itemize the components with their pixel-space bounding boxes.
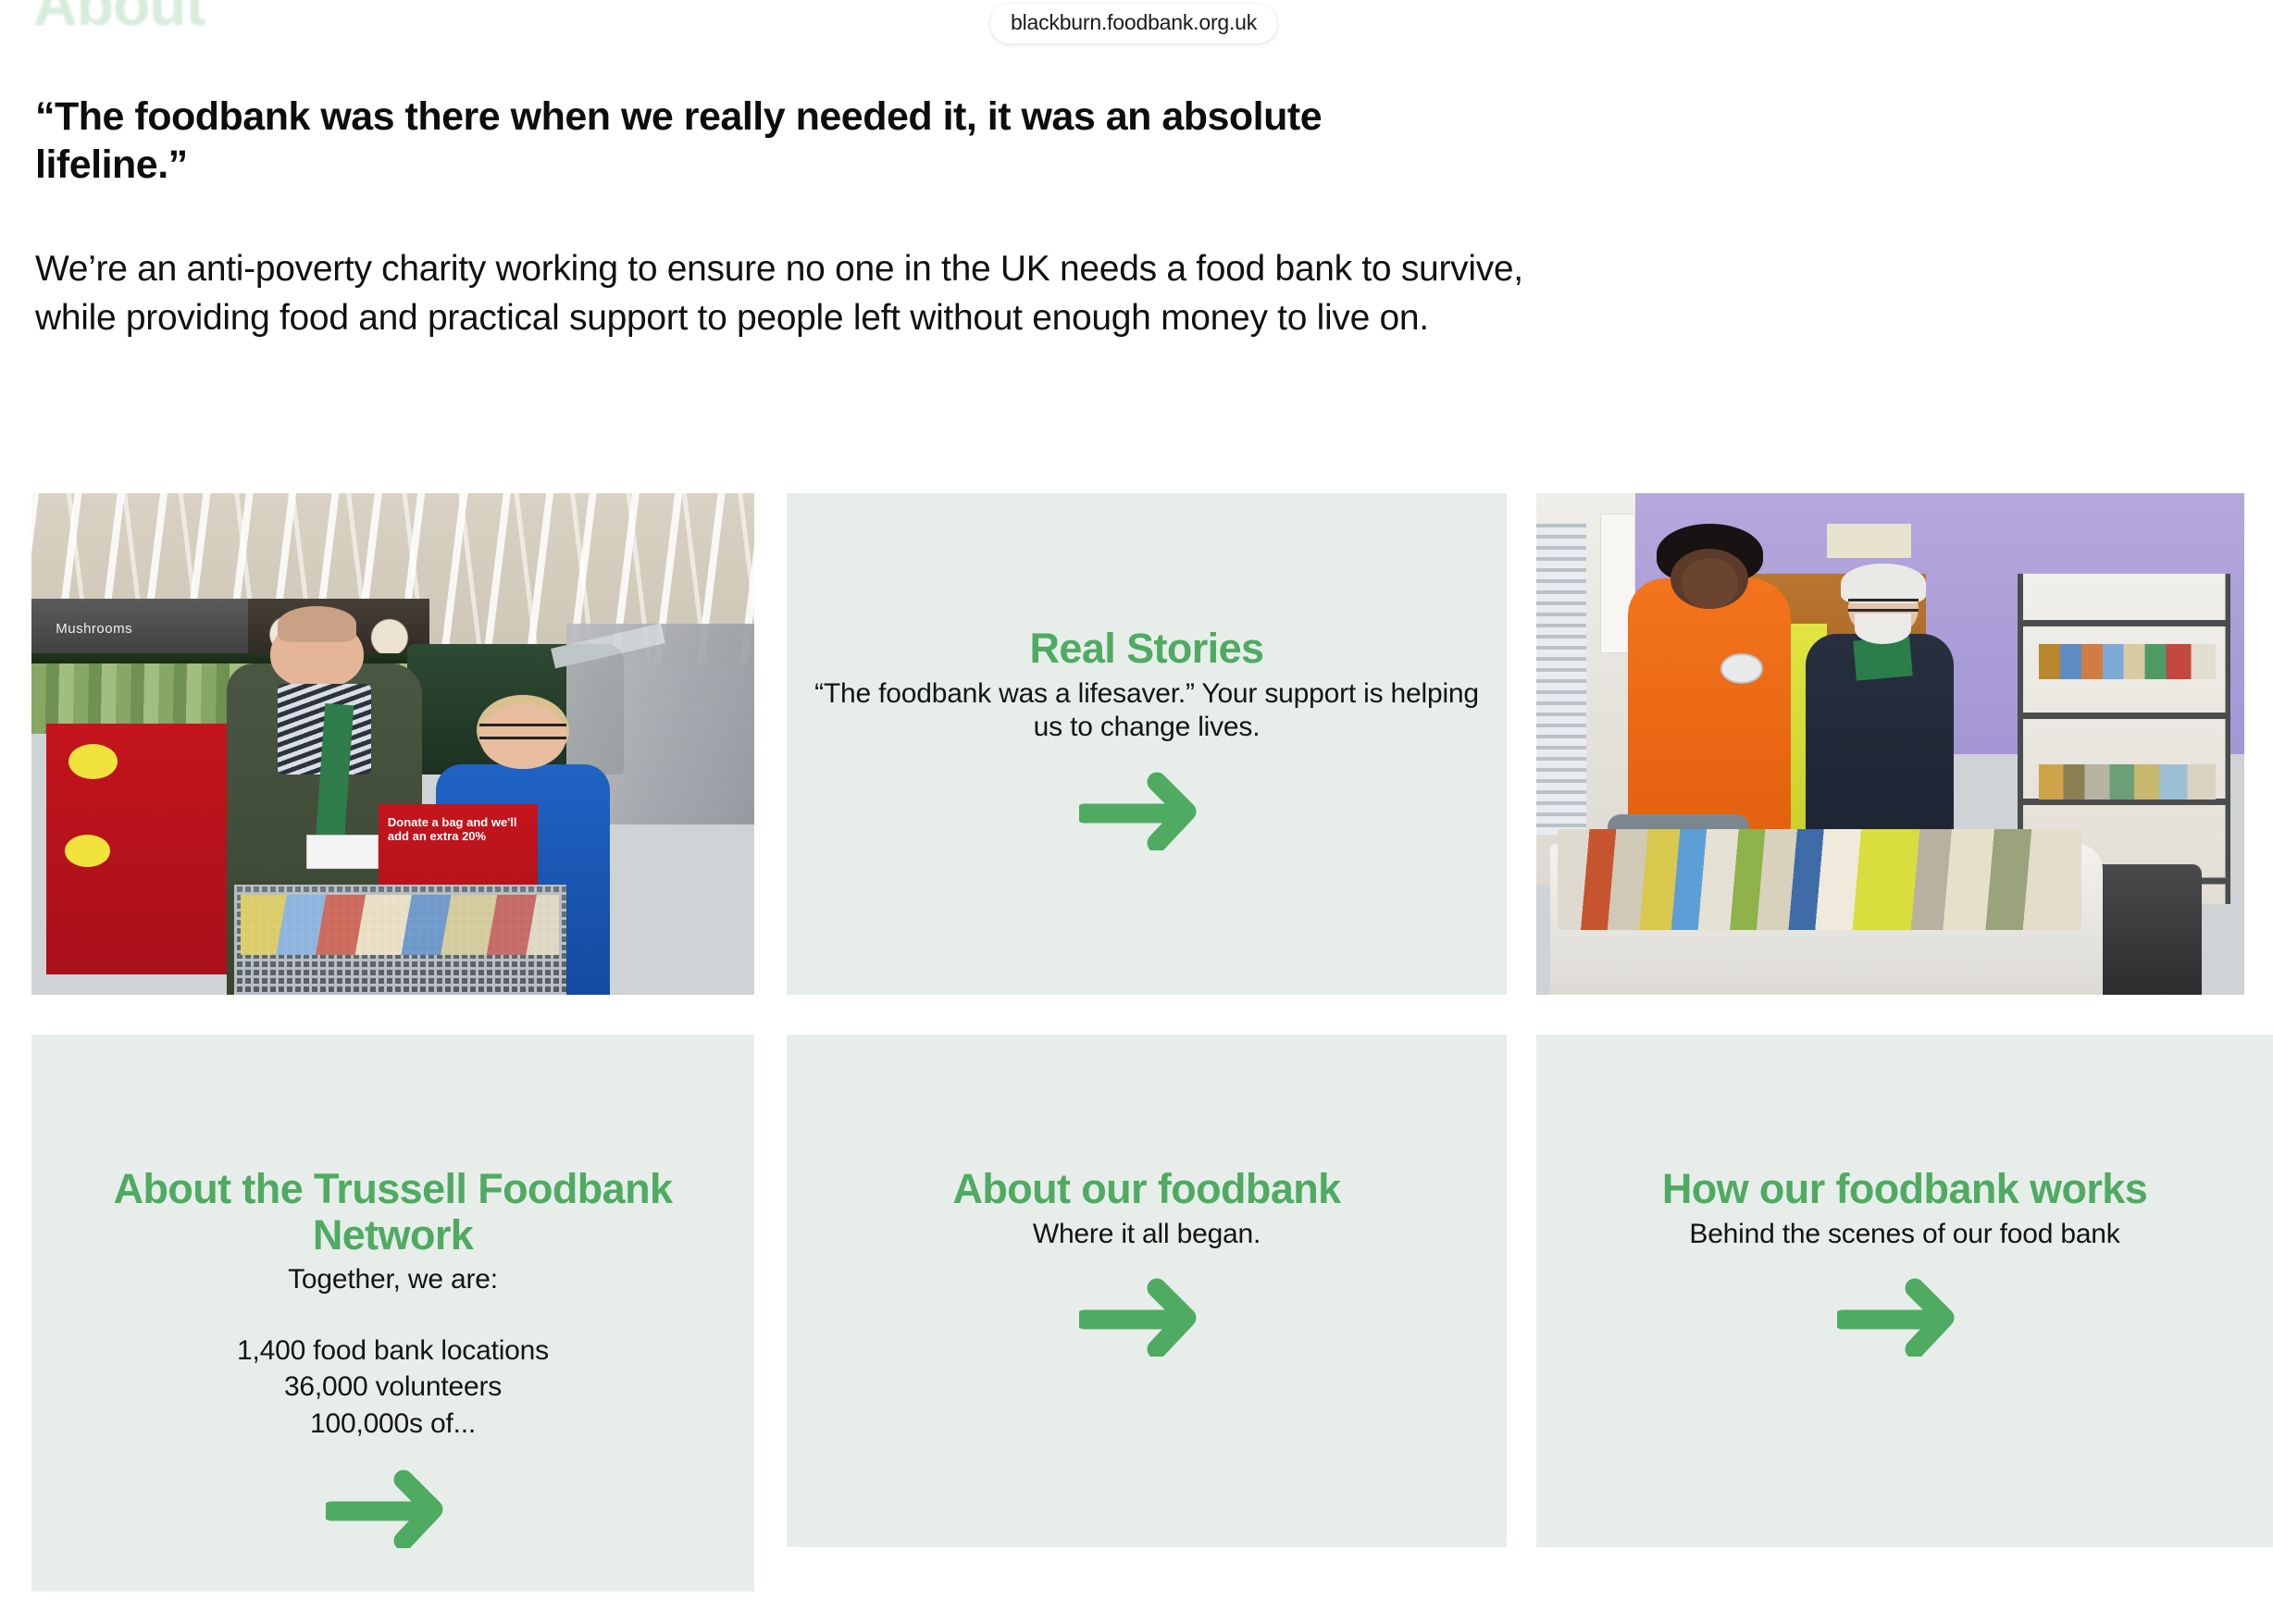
photo-red-display	[46, 724, 234, 974]
photo-shelf-tins-upper	[2039, 644, 2216, 679]
photo-volunteer-2-glasses	[1848, 599, 1919, 612]
url-pill[interactable]: blackburn.foodbank.org.uk	[990, 4, 1277, 43]
photo-held-tin	[1720, 653, 1763, 684]
photo-trolley-goods	[241, 895, 559, 955]
page-title: About	[33, 0, 205, 39]
photo-table-food-items	[1558, 829, 2081, 929]
card-subtitle: “The foodbank was a lifesaver.” Your sup…	[807, 677, 1486, 745]
card-cta[interactable]	[1573, 1275, 2236, 1357]
card-title: Real Stories	[807, 626, 1486, 672]
card-about-our-foodbank[interactable]: About our foodbank Where it all began.	[787, 1035, 1507, 1547]
card-title: How our foodbank works	[1573, 1166, 2236, 1212]
donation-sign-label: Donate a bag and we'll add an extra 20%	[388, 815, 517, 843]
card-real-stories[interactable]: Real Stories “The foodbank was a lifesav…	[787, 493, 1507, 995]
arrow-right-icon	[1837, 1275, 1972, 1357]
card-subtitle: Behind the scenes of our food bank	[1573, 1218, 2236, 1252]
photo-volunteer-2-beard	[1855, 614, 1911, 644]
photo-volunteer-face	[1682, 558, 1738, 608]
card-supermarket-collection-photo[interactable]: Mushrooms Donate a bag and we'll add an …	[31, 493, 754, 995]
card-subtitle: Together, we are:	[52, 1263, 734, 1297]
card-subtitle: Where it all began.	[807, 1218, 1486, 1252]
arrow-right-icon	[1079, 769, 1214, 850]
arrow-right-icon	[1079, 1275, 1214, 1357]
stat-line: 1,400 food bank locations	[52, 1333, 734, 1370]
photo-crate	[1536, 524, 1586, 835]
card-warehouse-sorting-photo[interactable]	[1536, 493, 2244, 995]
card-cta[interactable]	[807, 769, 1486, 850]
card-title: About our foodbank	[807, 1166, 1486, 1212]
pull-quote-heading: “The foodbank was there when we really n…	[35, 93, 1386, 190]
stat-line: 36,000 volunteers	[52, 1369, 734, 1406]
photo-volunteer-2-hair	[1841, 564, 1926, 603]
card-title: About the Trussell Foodbank Network	[52, 1166, 734, 1258]
intro-paragraph: We’re an anti-poverty charity working to…	[35, 245, 1525, 342]
card-stats-list: 1,400 food bank locations 36,000 volunte…	[52, 1333, 734, 1444]
card-cta[interactable]	[807, 1275, 1486, 1357]
photo-woman-glasses	[479, 724, 566, 738]
photo-notice	[1827, 524, 1912, 559]
page-root: About blackburn.foodbank.org.uk “The foo…	[0, 0, 2273, 1624]
card-how-our-foodbank-works[interactable]: How our foodbank works Behind the scenes…	[1536, 1035, 2273, 1547]
shelf-sign-label: Mushrooms	[56, 621, 132, 637]
photo-man-head	[270, 619, 365, 689]
stat-line: 100,000s of...	[52, 1406, 734, 1443]
arrow-right-icon	[326, 1467, 461, 1548]
photo-man-badge	[306, 835, 379, 870]
card-cta[interactable]	[52, 1467, 734, 1548]
card-about-the-trussell-foodbank-network[interactable]: About the Trussell Foodbank Network Toge…	[31, 1035, 754, 1592]
photo-shelf-tins-lower	[2039, 764, 2216, 800]
